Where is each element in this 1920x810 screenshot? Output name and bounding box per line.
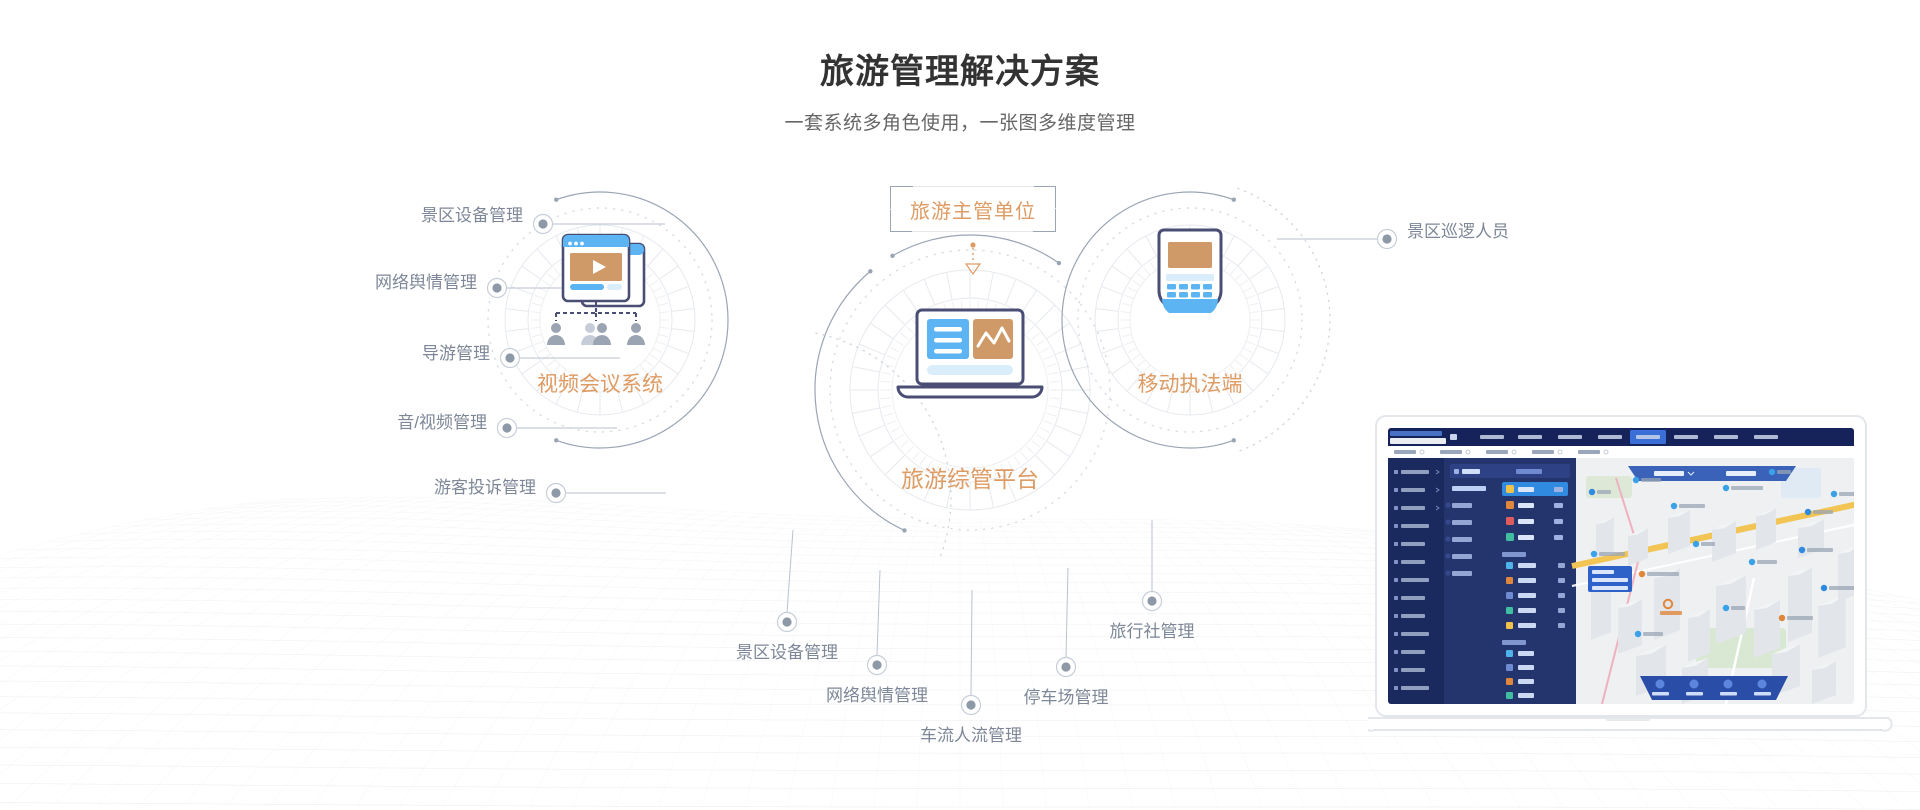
- bottom-node-label-3: 停车场管理: [1024, 683, 1109, 708]
- left-node-label-3: 音/视频管理: [397, 408, 487, 433]
- hub-caption-video-conference: 视频会议系统: [480, 368, 720, 398]
- bottom-node-label-0: 景区设备管理: [736, 638, 838, 663]
- laptop-mockup: [1368, 412, 1908, 782]
- handheld-device-icon: [1159, 230, 1221, 313]
- right-node-label-0: 景区巡逻人员: [1407, 217, 1509, 242]
- left-node-label-1: 网络舆情管理: [375, 268, 477, 293]
- laptop-screen: [1388, 428, 1892, 704]
- laptop-notch: [1606, 718, 1650, 721]
- left-node-label-2: 导游管理: [422, 339, 490, 364]
- bottom-node-label-4: 旅行社管理: [1110, 617, 1195, 642]
- solution-diagram-page: 旅游管理解决方案 一套系统多角色使用，一张图多维度管理 旅游主管单位 景区设备管…: [0, 0, 1920, 810]
- bottom-node-label-1: 网络舆情管理: [826, 681, 928, 706]
- left-node-label-4: 游客投诉管理: [434, 473, 536, 498]
- left-node-label-0: 景区设备管理: [421, 201, 523, 226]
- hub-caption-mobile-enforcement: 移动执法端: [1070, 368, 1310, 398]
- hub-caption-tourism-platform: 旅游综管平台: [850, 460, 1090, 494]
- laptop-dashboard-icon: [898, 310, 1042, 397]
- bottom-node-label-2: 车流人流管理: [920, 721, 1022, 746]
- video-conference-icon: [547, 235, 645, 345]
- authority-label: 旅游主管单位: [890, 186, 1056, 232]
